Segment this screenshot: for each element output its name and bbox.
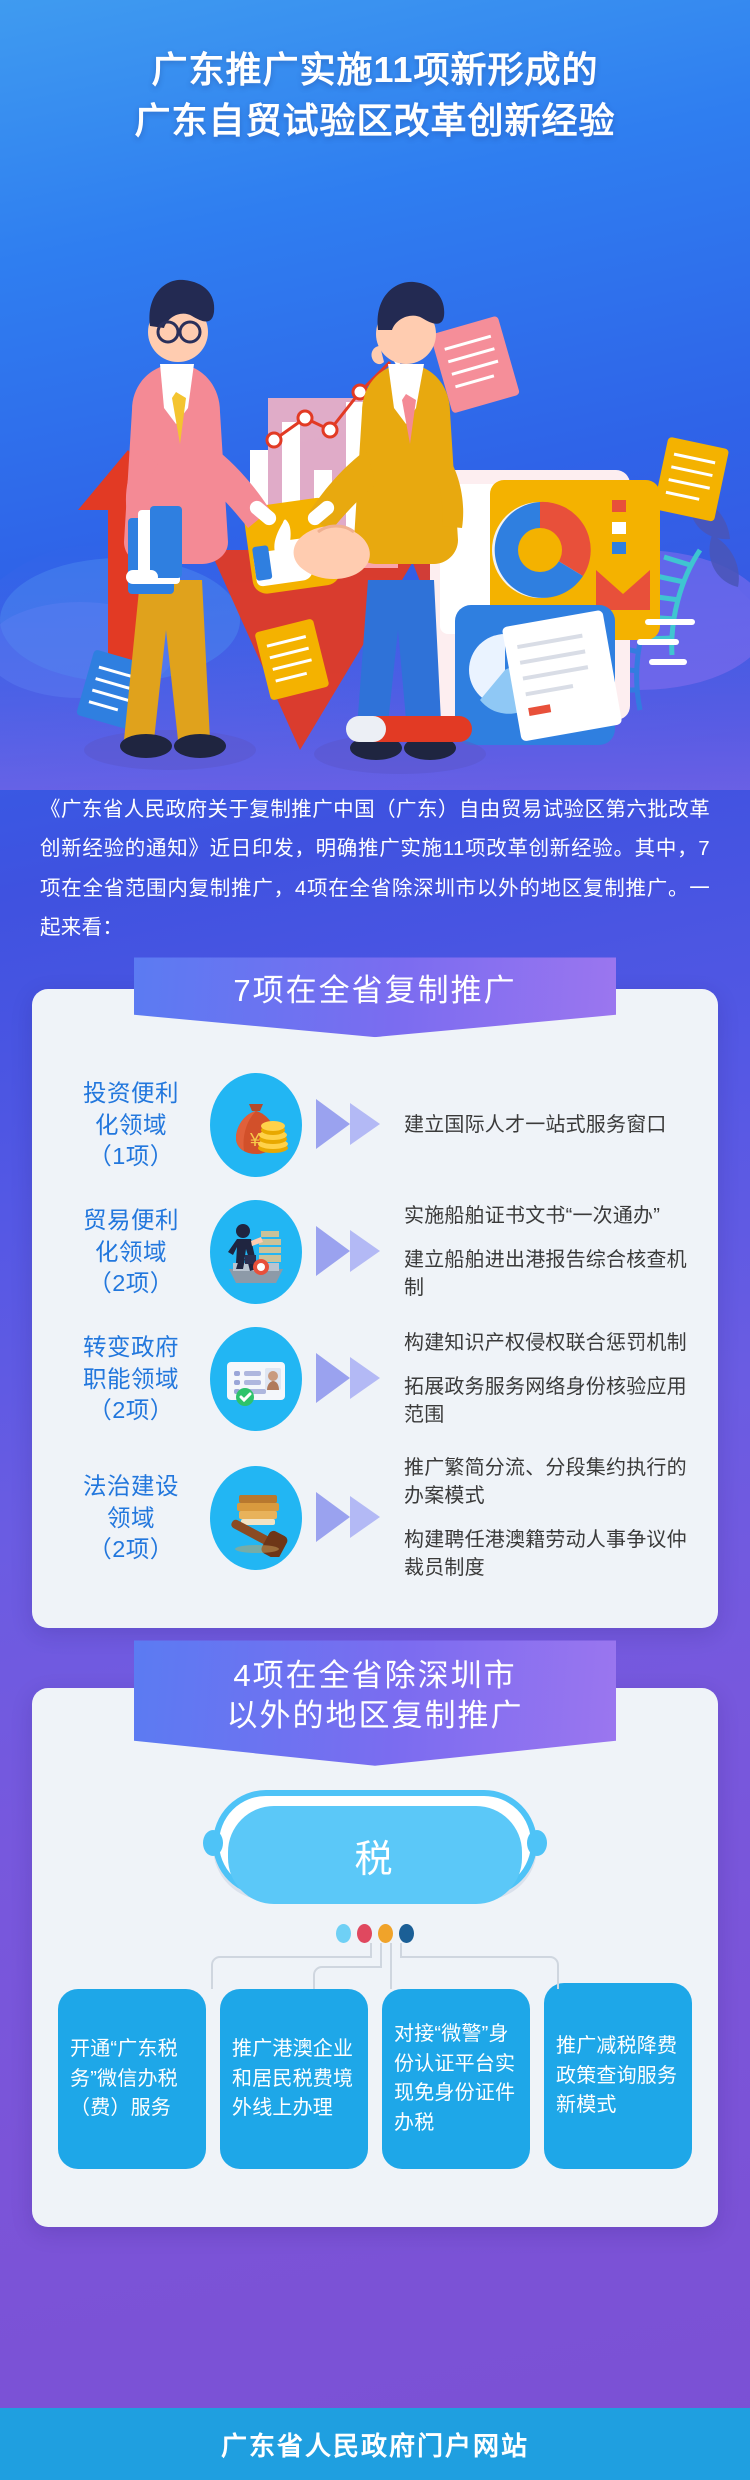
connector-dots xyxy=(54,1924,696,1943)
handshake-business-illustration xyxy=(0,150,750,790)
category-line-1: 转变政府 xyxy=(56,1332,206,1363)
list-item: 实施船舶证书文书“一次通办” xyxy=(404,1202,690,1230)
category-row: 贸易便利 化领域 （2项） xyxy=(56,1189,694,1316)
tax-card[interactable]: 推广港澳企业和居民税费境外线上办理 xyxy=(220,1989,368,2169)
section-two-banner: 4项在全省除深圳市 以外的地区复制推广 xyxy=(134,1640,616,1765)
tax-card[interactable]: 对接“微警”身份认证平台实现免身份证件办税 xyxy=(382,1989,530,2169)
section-two-banner-line-2: 以外的地区复制推广 xyxy=(144,1696,606,1736)
tax-card[interactable]: 推广减税降费政策查询服务新模式 xyxy=(544,1983,692,2169)
connector-dot xyxy=(336,1924,351,1943)
list-item: 建立国际人才一站式服务窗口 xyxy=(404,1111,690,1139)
list-item: 构建聘任港澳籍劳动人事争议仲裁员制度 xyxy=(404,1526,690,1582)
category-label: 贸易便利 化领域 （2项） xyxy=(56,1205,206,1299)
items-list: 建立国际人才一站式服务窗口 xyxy=(404,1111,694,1139)
double-chevron-icon xyxy=(312,1095,398,1155)
tax-measure-cards: 开通“广东税务”微信办税（费）服务 推广港澳企业和居民税费境外线上办理 对接“微… xyxy=(54,1989,696,2169)
double-chevron-icon xyxy=(312,1488,398,1548)
list-item: 构建知识产权侵权联合惩罚机制 xyxy=(404,1329,690,1357)
tax-tree-diagram: 税 开通“广东税务”微信办税（费）服务 xyxy=(54,1784,696,2169)
lead-paragraph: 《广东省人民政府关于复制推广中国（广东）自由贸易试验区第六批改革创新经验的通知》… xyxy=(40,790,710,947)
list-item: 建立船舶进出港报告综合核查机制 xyxy=(404,1246,690,1302)
tax-card[interactable]: 开通“广东税务”微信办税（费）服务 xyxy=(58,1989,206,2169)
infographic-page: 广东推广实施11项新形成的 广东自贸试验区改革创新经验 xyxy=(0,0,750,2480)
category-line-1: 法治建设 xyxy=(56,1471,206,1502)
page-title: 广东推广实施11项新形成的 广东自贸试验区改革创新经验 xyxy=(0,0,750,146)
category-line-3: （1项） xyxy=(56,1141,206,1172)
section-two-banner-line-1: 4项在全省除深圳市 xyxy=(144,1656,606,1696)
items-list: 推广繁简分流、分段集约执行的办案模式 构建聘任港澳籍劳动人事争议仲裁员制度 xyxy=(404,1454,694,1582)
category-line-2: 领域 xyxy=(56,1503,206,1534)
category-label: 转变政府 职能领域 （2项） xyxy=(56,1332,206,1426)
footer-bar: 广东省人民政府门户网站 xyxy=(0,2408,750,2480)
category-row: 法治建设 领域 （2项） xyxy=(56,1443,694,1594)
connector-dot xyxy=(357,1924,372,1943)
category-line-3: （2项） xyxy=(56,1268,206,1299)
category-line-2: 职能领域 xyxy=(56,1364,206,1395)
items-list: 实施船舶证书文书“一次通办” 建立船舶进出港报告综合核查机制 xyxy=(404,1202,694,1302)
section-one-banner: 7项在全省复制推广 xyxy=(134,957,616,1037)
tax-hub-label: 税 xyxy=(228,1806,522,1904)
section-seven-items-panel: 7项在全省复制推广 投资便利 化领域 （1项） ¥ xyxy=(32,989,718,1628)
section-one-banner-label: 7项在全省复制推广 xyxy=(144,971,606,1011)
section-four-items-panel: 4项在全省除深圳市 以外的地区复制推广 税 xyxy=(32,1688,718,2227)
category-row: 投资便利 化领域 （1项） ¥ xyxy=(56,1063,694,1189)
ship-businessman-icon xyxy=(210,1200,302,1304)
pill-nub-right xyxy=(527,1830,547,1856)
connector-dot xyxy=(378,1924,393,1943)
tree-connector-lines xyxy=(54,1943,696,1989)
items-list: 构建知识产权侵权联合惩罚机制 拓展政务服务网络身份核验应用范围 xyxy=(404,1329,694,1429)
hero-section: 广东推广实施11项新形成的 广东自贸试验区改革创新经验 xyxy=(0,0,750,790)
category-line-1: 投资便利 xyxy=(56,1078,206,1109)
title-line-2: 广东自贸试验区改革创新经验 xyxy=(0,95,750,146)
list-item: 拓展政务服务网络身份核验应用范围 xyxy=(404,1373,690,1429)
footer-site-name: 广东省人民政府门户网站 xyxy=(221,2426,529,2463)
money-bag-icon: ¥ xyxy=(210,1073,302,1177)
gavel-books-icon xyxy=(210,1466,302,1570)
category-row: 转变政府 职能领域 （2项） xyxy=(56,1316,694,1443)
double-chevron-icon xyxy=(312,1222,398,1282)
category-label: 法治建设 领域 （2项） xyxy=(56,1471,206,1565)
category-line-2: 化领域 xyxy=(56,1237,206,1268)
category-line-2: 化领域 xyxy=(56,1110,206,1141)
id-card-icon xyxy=(210,1327,302,1431)
list-item: 推广繁简分流、分段集约执行的办案模式 xyxy=(404,1454,690,1510)
category-line-1: 贸易便利 xyxy=(56,1205,206,1236)
category-line-3: （2项） xyxy=(56,1395,206,1426)
connector-dot xyxy=(399,1924,414,1943)
title-line-1: 广东推广实施11项新形成的 xyxy=(0,44,750,95)
double-chevron-icon xyxy=(312,1349,398,1409)
category-line-3: （2项） xyxy=(56,1534,206,1565)
tax-hub-node: 税 xyxy=(213,1790,537,1896)
pill-nub-left xyxy=(203,1830,223,1856)
category-label: 投资便利 化领域 （1项） xyxy=(56,1078,206,1172)
